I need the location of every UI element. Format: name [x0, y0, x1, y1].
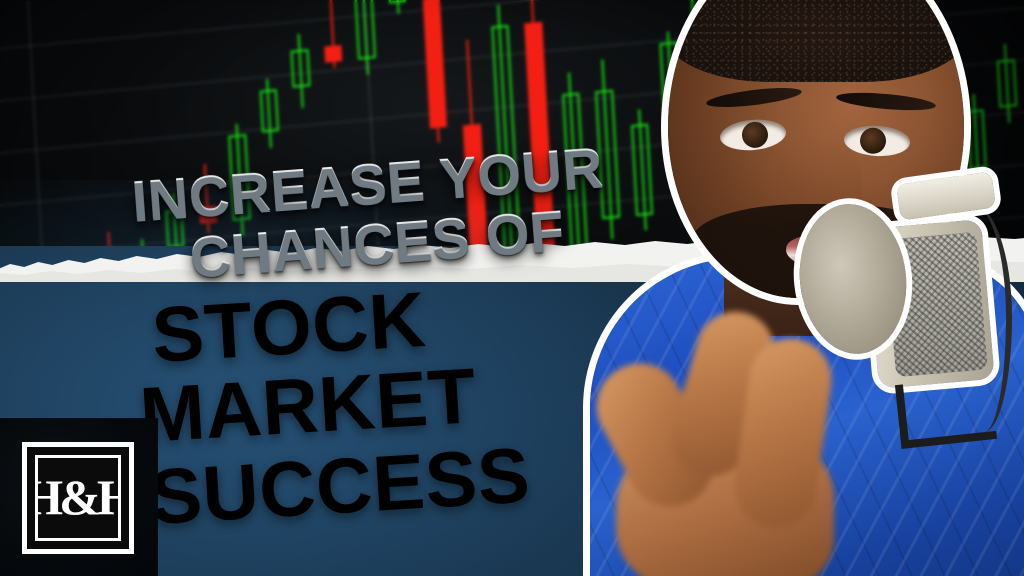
logo-text: H&H	[35, 472, 121, 522]
mic-stand	[895, 375, 997, 449]
logo-plate: H&H	[0, 418, 158, 576]
studio-microphone	[814, 212, 1014, 462]
candle-body	[199, 206, 217, 223]
candle-body	[324, 46, 342, 63]
candle-body	[259, 89, 279, 133]
candle-body	[165, 209, 184, 248]
channel-logo[interactable]: H&H	[22, 442, 134, 554]
hair	[668, 0, 964, 82]
eye-left	[719, 117, 787, 153]
iris-left	[741, 121, 769, 149]
candle-wick	[204, 165, 210, 234]
candle-body	[291, 49, 310, 88]
eyebrow-left	[705, 84, 802, 111]
logo-inner-frame: H&H	[35, 455, 121, 541]
eyebrow-right	[836, 90, 937, 114]
youtube-thumbnail: INCREASE YOUR CHANCES OF STOCK MARKET SU…	[0, 0, 1024, 576]
iris-right	[859, 127, 886, 154]
